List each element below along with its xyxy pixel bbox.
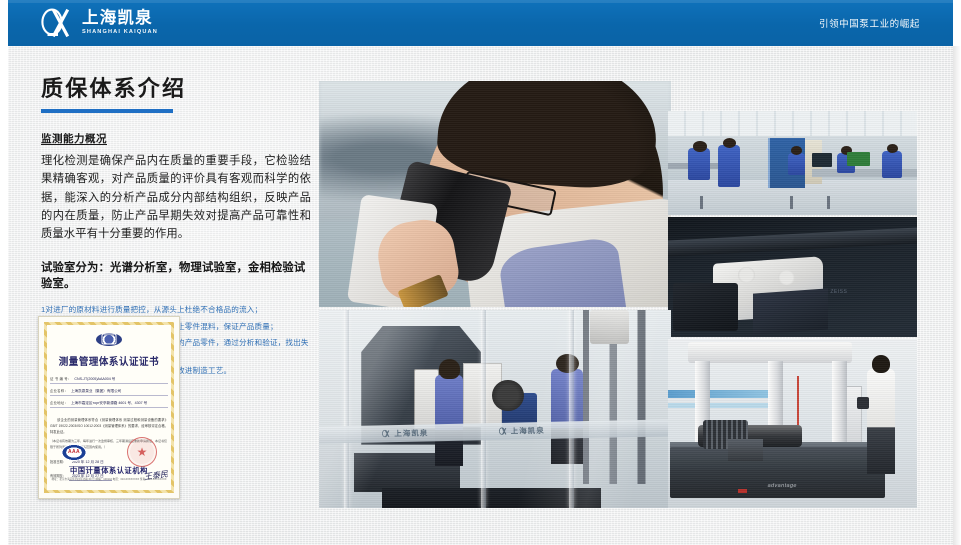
brand-name-cn: 上海凯泉 — [82, 10, 158, 27]
certificate-body-text: 该企业的测量管理体系符合《测量管理体系 测量过程和测量设备的要求》GB/T 19… — [50, 417, 168, 435]
photo-rail-logo-text: 上海凯泉 — [511, 425, 545, 437]
photo-wall-banner-2 — [668, 403, 768, 408]
photo-glass-mullion — [344, 310, 349, 508]
certificate-stamps: AAA ★ — [61, 437, 157, 467]
photo-cmm-gantry-beam — [688, 342, 852, 362]
photo-physical-testing-lab[interactable]: 上海凯泉 上海凯泉 — [319, 310, 671, 508]
photo-glass-mullion — [569, 310, 574, 508]
photo-handheld-controller — [857, 397, 869, 410]
field-label: 企业名称： — [50, 388, 68, 393]
photo-glass-mullion — [481, 310, 486, 508]
certificate-title: 测量管理体系认证证书 — [59, 353, 159, 368]
photo-stool — [790, 196, 793, 208]
slide-right-edge-shadow — [953, 46, 961, 545]
photo-microscope-inspection[interactable] — [319, 81, 671, 307]
header-top-strip — [8, 0, 953, 3]
certification-seal-icon — [96, 333, 122, 346]
certificate-address: 地址：北京市海淀区西四环北路 60 号 邮编：100142 电话：010-6XX… — [50, 478, 168, 482]
intro-paragraph: 理化检测是确保产品内在质量的重要手段，它检验结果精确客观，对产品质量的评价具有客… — [41, 152, 311, 243]
photo-stool — [827, 196, 830, 208]
kaiquan-logo-icon — [41, 8, 75, 38]
table-row: 证 书 编 号： CNS-JT(2005)AAA004 号 — [50, 376, 168, 385]
certificate-content: 测量管理体系认证证书 证 书 编 号： CNS-JT(2005)AAA004 号… — [50, 328, 168, 487]
photo-worker — [882, 151, 902, 178]
photo-analysis-instrument[interactable]: ZEISS — [668, 217, 917, 337]
photo-laboratory-room[interactable] — [668, 111, 917, 215]
photo-operator-left — [435, 375, 463, 466]
photo-monitor-green — [847, 152, 869, 167]
photo-red-label — [738, 489, 747, 493]
photo-wall-banner — [668, 390, 783, 398]
photo-foreground-module — [673, 283, 738, 331]
kaiquan-logo-icon: 上海凯泉 — [499, 425, 545, 437]
section-subheading: 监测能力概况 — [41, 131, 107, 146]
photo-worker-head — [693, 141, 707, 151]
kaiquan-logo-icon: 上海凯泉 — [382, 427, 428, 439]
photo-ceiling — [668, 111, 917, 136]
page-header: 上海凯泉 SHANGHAI KAIQUAN 引领中国泵工业的崛起 — [8, 0, 953, 46]
field-value: 上海凯泉泵业（集团）有限公司 — [71, 389, 121, 394]
photo-cmm-column — [832, 361, 847, 449]
photo-technician-head — [872, 355, 891, 373]
photo-instrument-brand: ZEISS — [830, 289, 847, 295]
brand-logo[interactable]: 上海凯泉 SHANGHAI KAIQUAN — [41, 8, 158, 38]
photo-worker — [718, 145, 740, 187]
lab-types-line: 试验室分为：光谱分析室，物理试验室，金相检验试验室。 — [41, 259, 311, 291]
field-value: 上海市嘉定区торг安亭新源路 4601 号、4307 号 — [71, 401, 147, 406]
photo-worker — [688, 148, 710, 179]
photo-worker-head — [887, 144, 898, 152]
photo-instrument-base — [753, 289, 828, 335]
field-label: 证 书 编 号： — [50, 376, 71, 381]
table-row: 企业名称： 上海凯泉泵业（集团）有限公司 — [50, 388, 168, 397]
red-official-seal-stamp: ★ — [127, 437, 157, 467]
header-tagline: 引领中国泵工业的崛起 — [819, 16, 920, 30]
title-underline-rule — [41, 109, 173, 113]
photo-machine-brand: advantage — [768, 483, 797, 489]
slide-root: 上海凯泉 SHANGHAI KAIQUAN 引领中国泵工业的崛起 质保体系介绍 … — [0, 0, 961, 545]
photo-worker — [788, 153, 805, 176]
page-title: 质保体系介绍 — [41, 76, 311, 102]
photo-foreground-table — [382, 488, 600, 508]
aaa-rating-label: AAA — [67, 449, 81, 455]
certificate-footer: 中国计量体系认证机构 地址：北京市海淀区西四环北路 60 号 邮编：100142… — [50, 466, 168, 482]
photo-stool — [700, 196, 703, 208]
photo-rail-logo-text: 上海凯泉 — [394, 427, 428, 439]
photo-part-fixture — [728, 439, 763, 461]
photo-operator-head — [439, 359, 460, 379]
certificate-field-rows: 证 书 编 号： CNS-JT(2005)AAA004 号 企业名称： 上海凯泉… — [50, 376, 168, 412]
field-value: CNS-JT(2005)AAA004 号 — [74, 377, 115, 382]
brand-name-en: SHANGHAI KAIQUAN — [82, 30, 158, 36]
certificate-issuing-org: 中国计量体系认证机构 — [50, 466, 168, 476]
photo-cmm-measuring[interactable]: advantage — [668, 339, 917, 508]
photo-instrument-knob — [738, 267, 755, 283]
field-label: 企业地址： — [50, 400, 68, 405]
list-item: 1对进厂的原材料进行质量把控，从源头上杜绝不合格品的流入； — [41, 304, 311, 315]
photo-tensile-tester-head — [590, 310, 629, 344]
brand-logo-text: 上海凯泉 SHANGHAI KAIQUAN — [82, 10, 158, 35]
aaa-rating-stamp: AAA — [61, 444, 87, 461]
certificate-image[interactable]: 测量管理体系认证证书 证 书 编 号： CNS-JT(2005)AAA004 号… — [38, 316, 180, 499]
photo-worker-head — [791, 146, 802, 154]
photo-monitor — [812, 153, 832, 168]
table-row: 企业地址： 上海市嘉定区торг安亭新源路 4601 号、4307 号 — [50, 400, 168, 409]
photo-granite-table — [670, 447, 884, 498]
photo-technician — [867, 369, 894, 474]
